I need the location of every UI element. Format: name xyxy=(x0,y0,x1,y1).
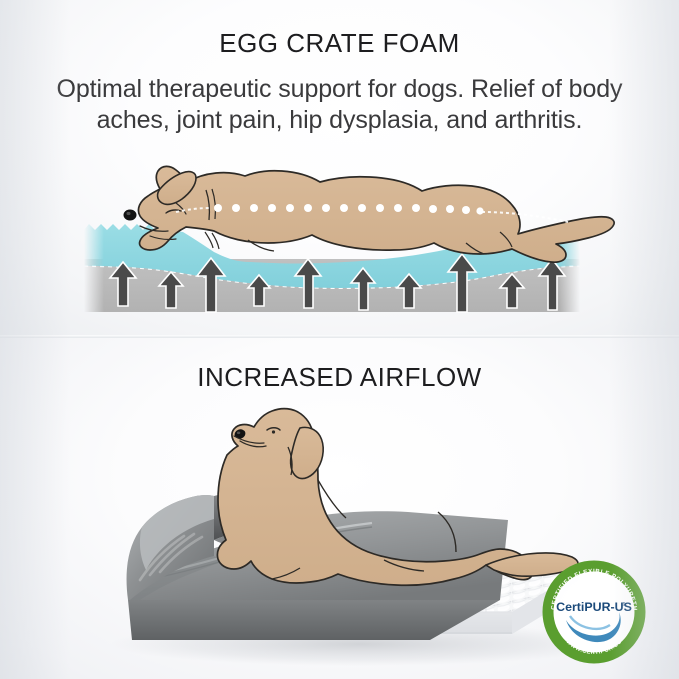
page-title-egg-crate-foam: EGG CRATE FOAM xyxy=(0,28,679,59)
page-title-increased-airflow: INCREASED AIRFLOW xyxy=(0,362,679,393)
certipur-us-seal: CONTAINS CERTIFIED FLEXIBLE POLYURETHANE… xyxy=(547,565,641,659)
dog-reclining xyxy=(217,409,578,586)
infographic-canvas: CONTAINS CERTIFIED FLEXIBLE POLYURETHANE… xyxy=(0,0,679,679)
page-subtitle-egg-crate-foam: Optimal therapeutic support for dogs. Re… xyxy=(24,74,655,136)
seal-trademark: ® xyxy=(622,601,626,608)
seal-brand-text: CertiPUR-US xyxy=(556,600,632,614)
